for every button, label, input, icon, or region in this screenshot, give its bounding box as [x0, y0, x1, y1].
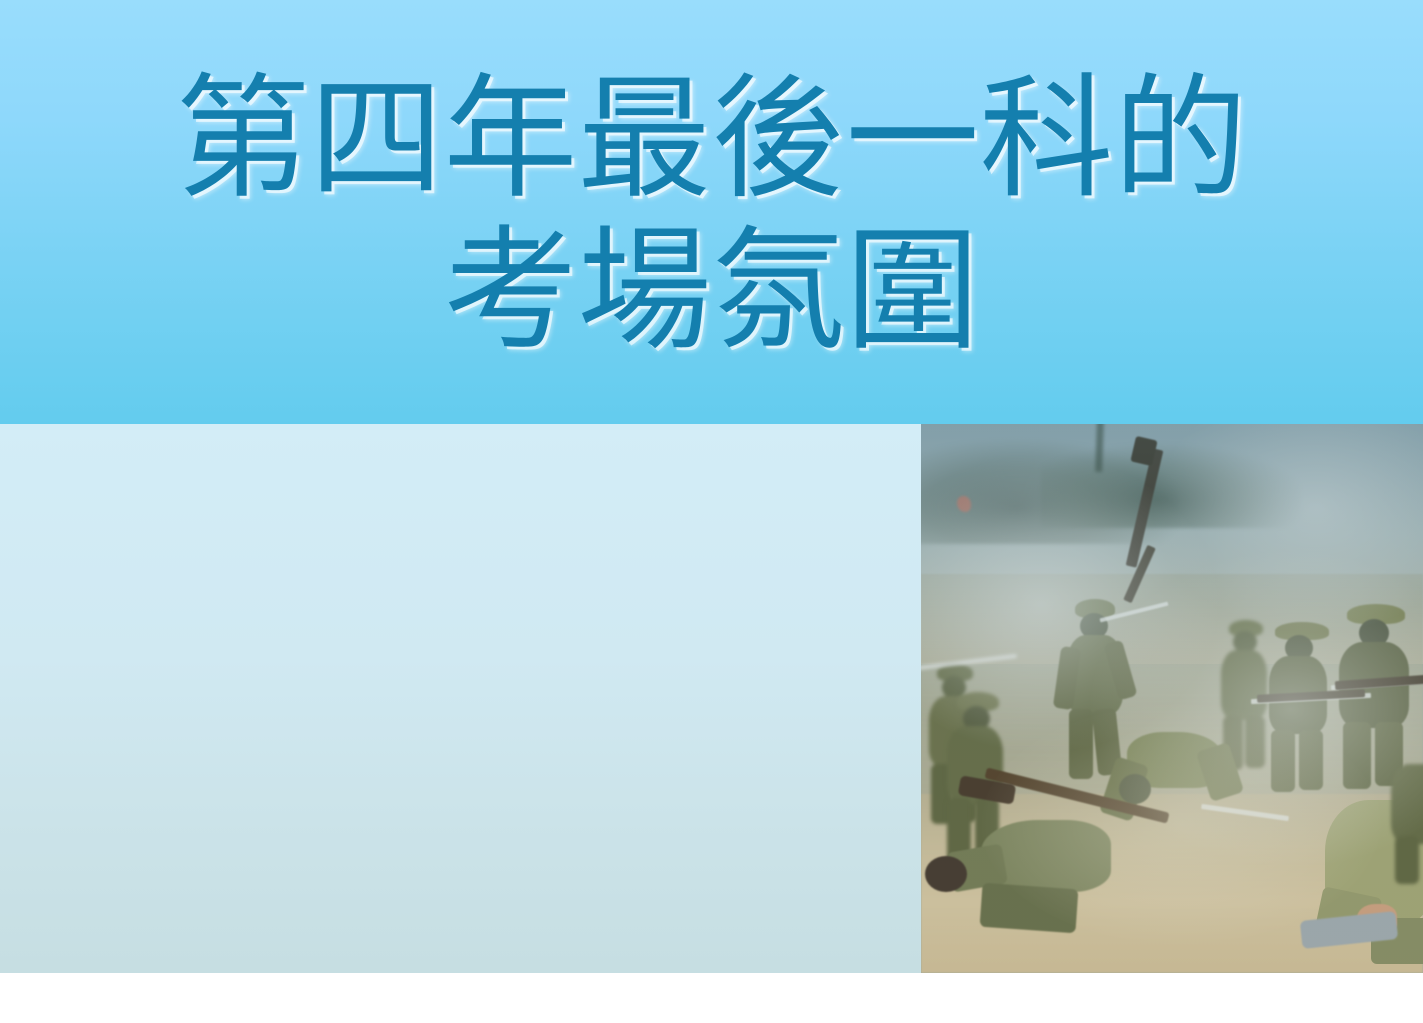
presentation-slide: 第四年最後一科的 考場氛圍 — [0, 0, 1423, 1023]
battlefield-photo[interactable] — [921, 424, 1423, 973]
slide-title-line-2: 考場氛圍 — [443, 215, 979, 367]
slide-title-line-1: 第四年最後一科的 — [175, 63, 1247, 215]
content-placeholder-text[interactable] — [38, 460, 888, 930]
slide-title[interactable]: 第四年最後一科的 考場氛圍 — [0, 0, 1423, 424]
photo-canvas — [921, 424, 1423, 973]
photo-color-wash — [921, 424, 1423, 973]
